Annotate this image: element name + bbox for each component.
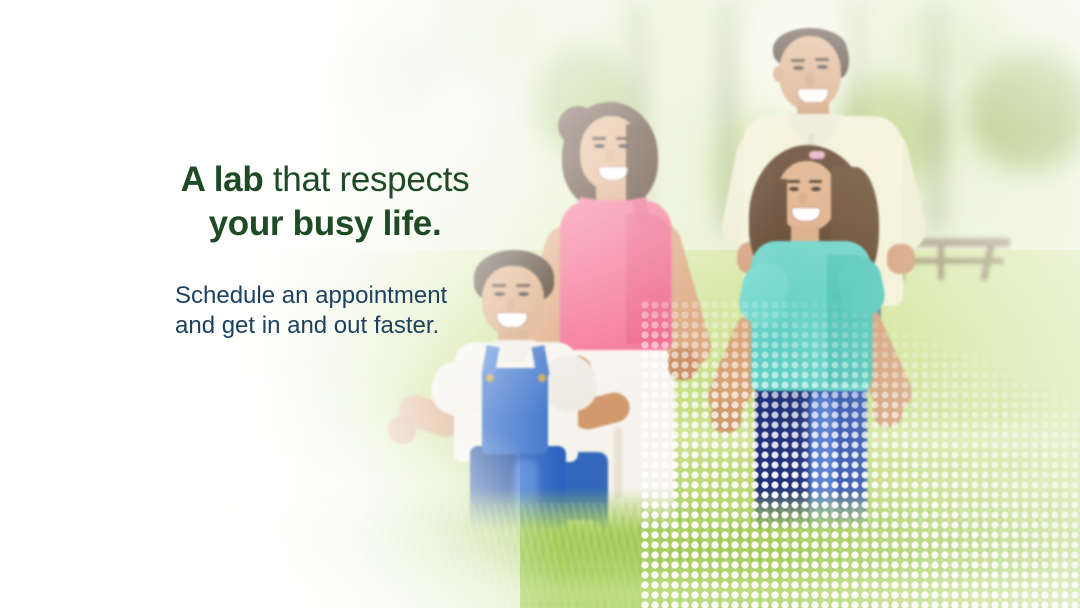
headline-line1-bold: A lab (181, 160, 264, 199)
lab-appointment-hero-banner: A lab that respects your busy life. Sche… (0, 0, 1080, 608)
headline-line1-regular: that respects (263, 160, 469, 199)
subheading-line1: Schedule an appointment (175, 281, 505, 311)
copy-block: A lab that respects your busy life. Sche… (0, 0, 1080, 608)
subheading-line2: and get in and out faster. (175, 311, 505, 341)
headline: A lab that respects your busy life. (120, 158, 530, 246)
headline-line2: your busy life. (120, 202, 530, 246)
subheading: Schedule an appointment and get in and o… (175, 281, 505, 341)
